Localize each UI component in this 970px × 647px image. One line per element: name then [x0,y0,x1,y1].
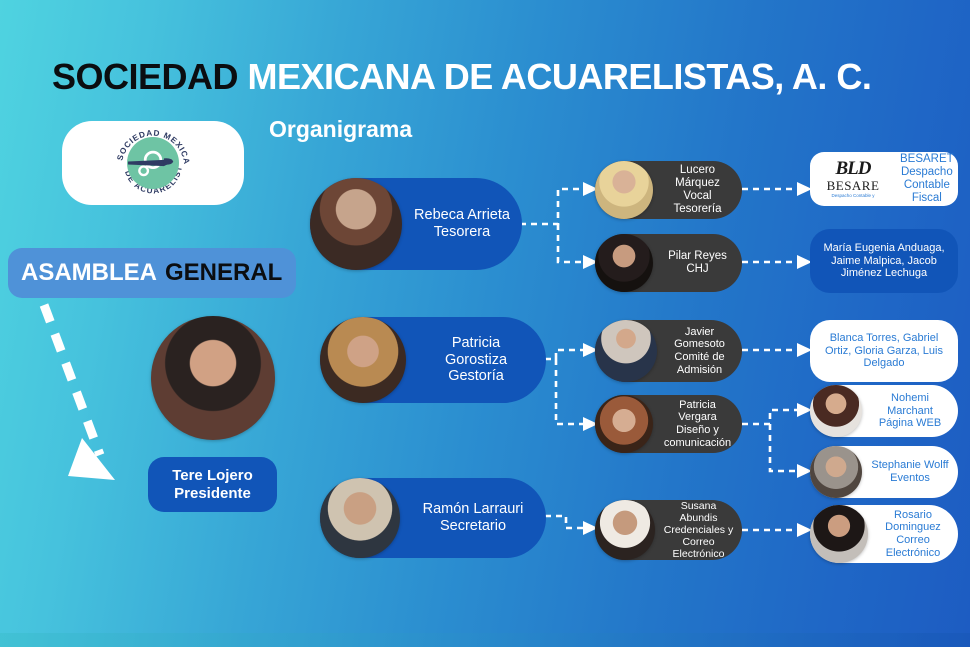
organization-logo: SOCIEDAD MEXICANA DE ACUARELISTAS [62,121,244,205]
javier-name-2: Gomesoto [665,338,734,351]
asamblea-word: ASAMBLEA [21,259,157,287]
wire-assembly-to-president [44,305,100,455]
title-part-2: MEXICANA DE ACUARELISTAS, A. C. [248,56,872,97]
rosario-role-1: Correo [876,534,950,547]
node-besaret[interactable]: BLD BESARE Despacho Contable y BESARET D… [810,152,958,206]
susana-role-1: Credenciales y [663,524,734,536]
node-nohemi-marchant[interactable]: Nohemi Marchant Página WEB [810,385,958,437]
lucero-role: Vocal Tesorería [661,190,734,216]
page-subtitle: Organigrama [269,116,412,143]
stephanie-name: Stephanie Wolff [870,459,950,472]
comite-line-2: Ortiz, Gloria Garza, Luis [816,345,952,358]
rebeca-role: Tesorera [410,224,514,241]
nohemi-name-1: Nohemi [870,392,950,405]
wire-rebeca-lucero [520,189,586,224]
anduaga-line-2: Jaime Malpica, Jacob [816,255,952,268]
node-stephanie-wolff[interactable]: Stephanie Wolff Eventos [810,446,958,498]
vergara-name: Patricia Vergara [661,399,734,424]
logo-brush-mark [114,124,192,202]
besaret-logo: BLD BESARE Despacho Contable y [814,155,892,203]
avatar-javier-gomesoto [595,320,657,382]
comite-line-3: Delgado [816,357,952,370]
javier-name-1: Javier [665,326,734,339]
node-anduaga-group[interactable]: María Eugenia Anduaga, Jaime Malpica, Ja… [810,229,958,293]
wire-vergara-stephanie [770,424,800,471]
president-role: Presidente [156,485,269,502]
avatar-patricia-gorostiza [320,317,406,403]
node-susana-abundis[interactable]: Susana Abundis Credenciales y Correo Ele… [595,500,742,560]
besaret-line-2: Despacho [900,166,954,179]
lucero-name: Lucero Márquez [661,164,734,190]
logo-emblem: SOCIEDAD MEXICANA DE ACUARELISTAS [114,124,192,202]
vergara-role-1: Diseño y [661,424,734,437]
rebeca-name: Rebeca Arrieta [410,207,514,224]
node-rebeca-arrieta[interactable]: Rebeca Arrieta Tesorera [310,178,522,270]
node-president[interactable]: Tere Lojero Presidente [148,457,277,512]
avatar-lucero-marquez [595,161,653,219]
title-part-1: SOCIEDAD [52,56,238,97]
besaret-tagline: Despacho Contable y [831,194,874,199]
ramon-name: Ramón Larrauri [408,501,538,518]
node-comite-members[interactable]: Blanca Torres, Gabriel Ortiz, Gloria Gar… [810,320,958,382]
stephanie-role: Eventos [870,472,950,485]
asamblea-general-badge[interactable]: ASAMBLEA GENERAL [8,248,296,298]
node-president-photo [151,316,275,440]
rosario-role-2: Electrónico [876,547,950,560]
susana-role-3: Electrónico [663,548,734,560]
page-title: SOCIEDAD MEXICANA DE ACUARELISTAS, A. C. [52,56,871,98]
besaret-line-3: Contable Fiscal [900,179,954,205]
general-word: GENERAL [165,259,282,287]
president-name: Tere Lojero [156,467,269,484]
avatar-pilar-reyes [595,234,653,292]
organigrama-canvas: SOCIEDAD MEXICANA DE ACUARELISTAS, A. C.… [0,0,970,647]
arrow-assembly-to-president [68,438,115,480]
besaret-wordmark: BESARE [827,179,880,192]
node-ramon-larrauri[interactable]: Ramón Larrauri Secretario [320,478,546,558]
avatar-ramon-larrauri [320,478,400,558]
gorostiza-name-1: Patricia [414,335,538,352]
rosario-name-1: Rosario [876,509,950,522]
besaret-monogram: BLD [836,159,871,178]
wire-gorostiza-vergara [556,359,586,424]
comite-line-1: Blanca Torres, Gabriel [816,332,952,345]
avatar-rosario-dominguez [810,505,868,563]
pilar-name: Pilar Reyes [661,250,734,263]
avatar-stephanie-wolff [810,446,862,498]
node-pilar-reyes[interactable]: Pilar Reyes CHJ [595,234,742,292]
node-lucero-marquez[interactable]: Lucero Márquez Vocal Tesorería [595,161,742,219]
node-patricia-gorostiza[interactable]: Patricia Gorostiza Gestoría [320,317,546,403]
besaret-line-1: BESARET [900,153,954,166]
bottom-band [0,633,970,647]
node-patricia-vergara[interactable]: Patricia Vergara Diseño y comunicación [595,395,742,453]
susana-role-2: Correo [663,536,734,548]
avatar-tere-lojero [151,316,275,440]
wire-vergara-nohemi [742,410,800,424]
vergara-role-2: comunicación [661,437,734,450]
javier-role-1: Comité de [665,351,734,364]
node-rosario-dominguez[interactable]: Rosario Dominguez Correo Electrónico [810,505,958,563]
avatar-susana-abundis [595,500,655,560]
wire-ramon-susana [545,516,586,528]
anduaga-line-1: María Eugenia Anduaga, [816,242,952,255]
javier-role-2: Admisión [665,364,734,377]
gorostiza-role: Gestoría [414,368,538,385]
nohemi-role: Página WEB [870,417,950,430]
node-javier-gomesoto[interactable]: Javier Gomesoto Comité de Admisión [595,320,742,382]
rosario-name-2: Dominguez [876,521,950,534]
nohemi-name-2: Marchant [870,405,950,418]
wire-gorostiza-javier [545,350,586,359]
susana-name: Susana Abundis [663,500,734,524]
gorostiza-name-2: Gorostiza [414,352,538,369]
avatar-patricia-vergara [595,395,653,453]
anduaga-line-3: Jiménez Lechuga [816,267,952,280]
pilar-role: CHJ [661,263,734,276]
wire-rebeca-pilar [558,224,586,262]
avatar-nohemi-marchant [810,385,862,437]
ramon-role: Secretario [408,518,538,535]
avatar-rebeca-arrieta [310,178,402,270]
